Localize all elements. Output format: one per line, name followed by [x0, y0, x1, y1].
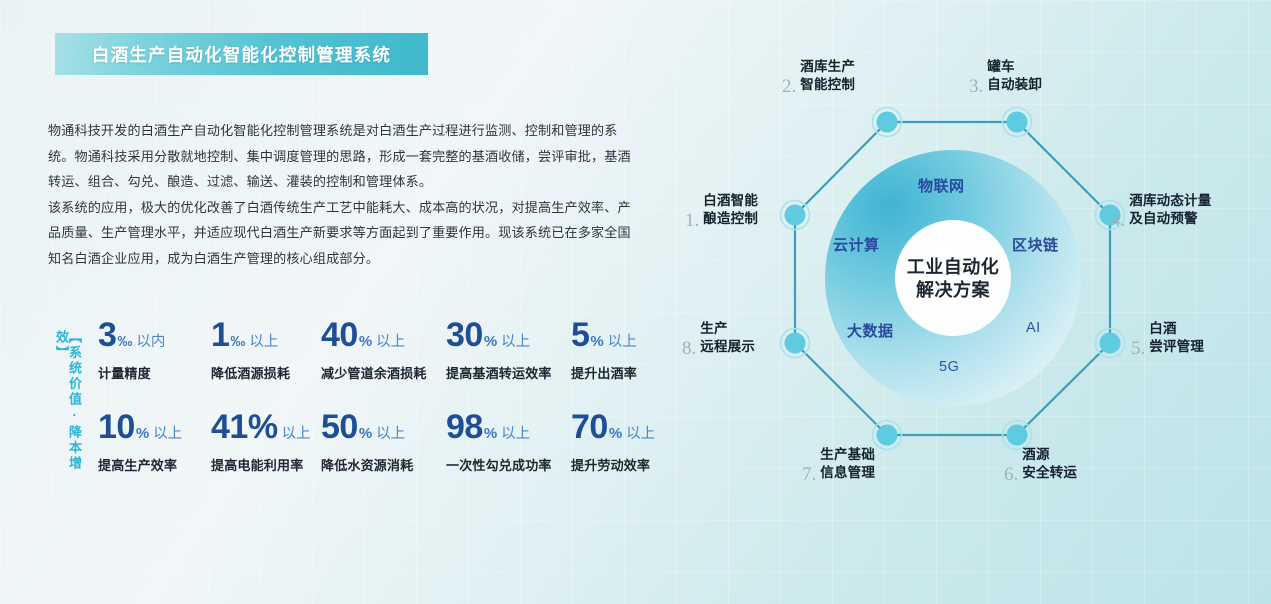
stat-item: 1‰以上降低酒源损耗 [209, 318, 319, 410]
stat-number: 40 [321, 316, 358, 354]
stats-section: 【系统价值·降本增效】 3‰以内计量精度1‰以上降低酒源损耗40%以上减少管道余… [48, 318, 648, 508]
stat-number-line: 30%以上 [446, 318, 569, 352]
stat-item: 30%以上提高基酒转运效率 [444, 318, 569, 410]
stat-comparator: 以内 [136, 334, 165, 350]
stat-number: 30 [446, 316, 483, 354]
stat-caption: 提高基酒转运效率 [446, 363, 569, 382]
stat-number: 70 [571, 408, 608, 446]
stat-item: 3‰以内计量精度 [96, 318, 209, 410]
stat-comparator: 以上 [282, 426, 311, 442]
node-label-1[interactable]: 1. 白酒智能酿造控制 [685, 192, 758, 228]
stat-unit: % [484, 425, 497, 442]
stat-unit: % [609, 425, 622, 442]
tech-word-ai: AI [1026, 320, 1041, 336]
node-index-4: 4. [1111, 212, 1125, 230]
stat-comparator: 以上 [376, 334, 405, 350]
node-label-4[interactable]: 4. 酒库动态计量及自动预警 [1111, 192, 1211, 228]
node-index-2: 2. [782, 78, 796, 96]
stat-caption: 一次性勾兑成功率 [446, 455, 569, 474]
tech-word-bigdata: 大数据 [847, 320, 894, 341]
stats-grid: 3‰以内计量精度1‰以上降低酒源损耗40%以上减少管道余酒损耗30%以上提高基酒… [96, 318, 669, 502]
stat-number: 41% [211, 408, 278, 446]
stats-vertical-label: 【系统价值·降本增效】 [55, 330, 81, 490]
node-text-8: 生产远程展示 [700, 320, 755, 356]
stat-item: 70%以上提升劳动效率 [569, 410, 669, 502]
stat-caption: 提高生产效率 [98, 455, 209, 474]
title-banner: 白酒生产自动化智能化控制管理系统 [55, 33, 428, 75]
intro-paragraph-1: 物通科技开发的白酒生产自动化智能化控制管理系统是对白酒生产过程进行监测、控制和管… [48, 118, 638, 195]
stat-number-line: 41%以上 [211, 410, 319, 444]
node-label-7[interactable]: 7. 生产基础信息管理 [802, 446, 875, 482]
stat-item: 5%以上提升出酒率 [569, 318, 669, 410]
stat-comparator: 以上 [153, 426, 182, 442]
stat-number: 10 [98, 408, 135, 446]
stat-unit: % [136, 425, 149, 442]
node-text-5: 白酒尝评管理 [1149, 320, 1204, 356]
intro-text-block: 物通科技开发的白酒生产自动化智能化控制管理系统是对白酒生产过程进行监测、控制和管… [48, 118, 638, 271]
stat-number-line: 10%以上 [98, 410, 209, 444]
core-label: 工业自动化 解决方案 [878, 256, 1028, 302]
node-index-8: 8. [682, 340, 696, 358]
node-label-5[interactable]: 5. 白酒尝评管理 [1131, 320, 1204, 356]
node-label-8[interactable]: 8. 生产远程展示 [682, 320, 755, 356]
stat-caption: 降低水资源消耗 [321, 455, 444, 474]
stat-unit: % [484, 333, 497, 350]
stat-item: 10%以上提高生产效率 [96, 410, 209, 502]
node-index-6: 6. [1004, 466, 1018, 484]
node-text-7: 生产基础信息管理 [820, 446, 875, 482]
page-title: 白酒生产自动化智能化控制管理系统 [92, 42, 391, 67]
stat-number-line: 40%以上 [321, 318, 444, 352]
node-text-4: 酒库动态计量及自动预警 [1129, 192, 1211, 228]
stat-item: 40%以上减少管道余酒损耗 [319, 318, 444, 410]
stat-comparator: 以上 [501, 334, 530, 350]
stat-number: 50 [321, 408, 358, 446]
node-label-2[interactable]: 2. 酒库生产智能控制 [782, 58, 855, 94]
stat-number: 98 [446, 408, 483, 446]
stat-comparator: 以上 [608, 334, 637, 350]
node-text-1: 白酒智能酿造控制 [703, 192, 758, 228]
node-label-3[interactable]: 3. 罐车自动装卸 [969, 58, 1042, 94]
stat-unit: % [359, 425, 372, 442]
stat-item: 98%以上一次性勾兑成功率 [444, 410, 569, 502]
stat-caption: 提高电能利用率 [211, 455, 319, 474]
stat-item: 50%以上降低水资源消耗 [319, 410, 444, 502]
stat-number-line: 1‰以上 [211, 318, 319, 352]
stat-caption: 计量精度 [98, 363, 209, 382]
stat-number-line: 3‰以内 [98, 318, 209, 352]
tech-word-blockchain: 区块链 [1012, 234, 1059, 255]
node-text-3: 罐车自动装卸 [987, 58, 1042, 94]
stat-caption: 减少管道余酒损耗 [321, 363, 444, 382]
node-text-2: 酒库生产智能控制 [800, 58, 855, 94]
octagon-diagram: 物联网 云计算 区块链 大数据 AI 5G 工业自动化 解决方案 1. 白酒智能… [655, 0, 1271, 604]
stat-comparator: 以上 [626, 426, 655, 442]
tech-word-5g: 5G [939, 359, 959, 375]
stat-number: 1 [211, 316, 229, 354]
node-index-5: 5. [1131, 340, 1145, 358]
stat-number: 5 [571, 316, 589, 354]
stat-unit: ‰ [230, 333, 245, 350]
stat-comparator: 以上 [501, 426, 530, 442]
node-index-7: 7. [802, 466, 816, 484]
node-index-3: 3. [969, 78, 983, 96]
stat-unit: % [359, 333, 372, 350]
stat-number-line: 98%以上 [446, 410, 569, 444]
stat-comparator: 以上 [249, 334, 278, 350]
intro-paragraph-2: 该系统的应用，极大的优化改善了白酒传统生产工艺中能耗大、成本高的状况，对提高生产… [48, 195, 638, 272]
stat-number: 3 [98, 316, 116, 354]
stat-item: 41%以上提高电能利用率 [209, 410, 319, 502]
node-label-6[interactable]: 6. 酒源安全转运 [1004, 446, 1077, 482]
stat-comparator: 以上 [376, 426, 405, 442]
tech-word-iot: 物联网 [918, 175, 965, 196]
diagram-svg [655, 0, 1271, 604]
stat-caption: 降低酒源损耗 [211, 363, 319, 382]
left-content-column: 白酒生产自动化智能化控制管理系统 物通科技开发的白酒生产自动化智能化控制管理系统… [0, 0, 670, 604]
node-text-6: 酒源安全转运 [1022, 446, 1077, 482]
core-label-line1: 工业自动化 [878, 256, 1028, 279]
node-index-1: 1. [685, 212, 699, 230]
stat-unit: ‰ [117, 333, 132, 350]
tech-word-cloud: 云计算 [833, 234, 880, 255]
core-label-line2: 解决方案 [878, 279, 1028, 302]
stat-unit: % [590, 333, 603, 350]
stat-number-line: 50%以上 [321, 410, 444, 444]
